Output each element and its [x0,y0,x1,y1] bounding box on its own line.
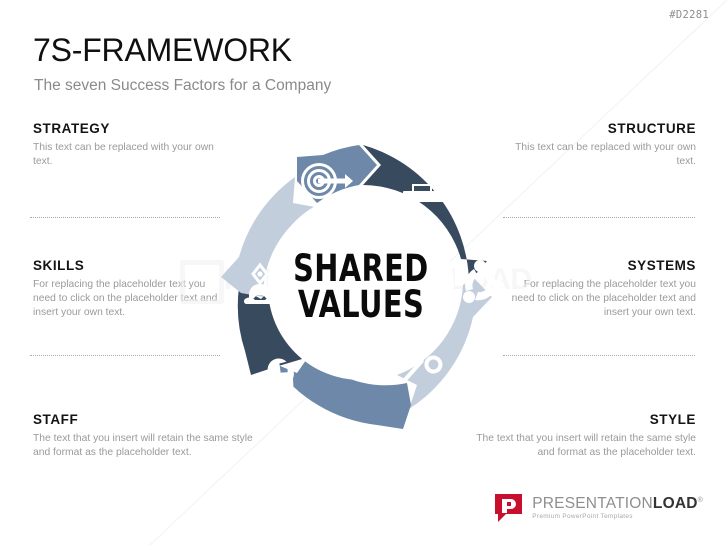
heading-strategy: STRATEGY [33,121,228,136]
divider-left-lower [30,355,220,356]
text-block-strategy[interactable]: STRATEGY This text can be replaced with … [33,121,228,169]
logo-speech-bubble-icon [494,493,523,523]
logo-name-light: PRESENTATION [532,495,653,512]
logo-name-bold: LOAD [653,495,698,512]
divider-right-upper [503,217,695,218]
heading-systems: SYSTEMS [506,258,696,273]
page-title: 7S-FRAMEWORK [33,34,292,66]
heading-structure: STRUCTURE [501,121,696,136]
body-structure[interactable]: This text can be replaced with your own … [501,141,696,169]
logo-wordmark: PRESENTATIONLOAD® Premium PowerPoint Tem… [532,496,703,521]
presentationload-logo[interactable]: PRESENTATIONLOAD® Premium PowerPoint Tem… [494,493,703,523]
cycle-diagram [211,137,511,437]
page-subtitle: The seven Success Factors for a Company [34,78,331,94]
body-skills[interactable]: For replacing the placeholder text you n… [33,278,223,320]
text-block-skills[interactable]: SKILLS For replacing the placeholder tex… [33,258,223,320]
document-id: #D2281 [669,9,709,21]
divider-right-lower [503,355,695,356]
body-systems[interactable]: For replacing the placeholder text you n… [506,278,696,320]
logo-registered-mark: ® [698,496,703,503]
slide-canvas: #D2281 7S-FRAMEWORK The seven Success Fa… [0,0,727,545]
heading-skills: SKILLS [33,258,223,273]
body-strategy[interactable]: This text can be replaced with your own … [33,141,228,169]
divider-left-upper [30,217,220,218]
wheel-hub [268,194,454,380]
text-block-structure[interactable]: STRUCTURE This text can be replaced with… [501,121,696,169]
logo-tagline: Premium PowerPoint Templates [532,514,703,520]
text-block-systems[interactable]: SYSTEMS For replacing the placeholder te… [506,258,696,320]
